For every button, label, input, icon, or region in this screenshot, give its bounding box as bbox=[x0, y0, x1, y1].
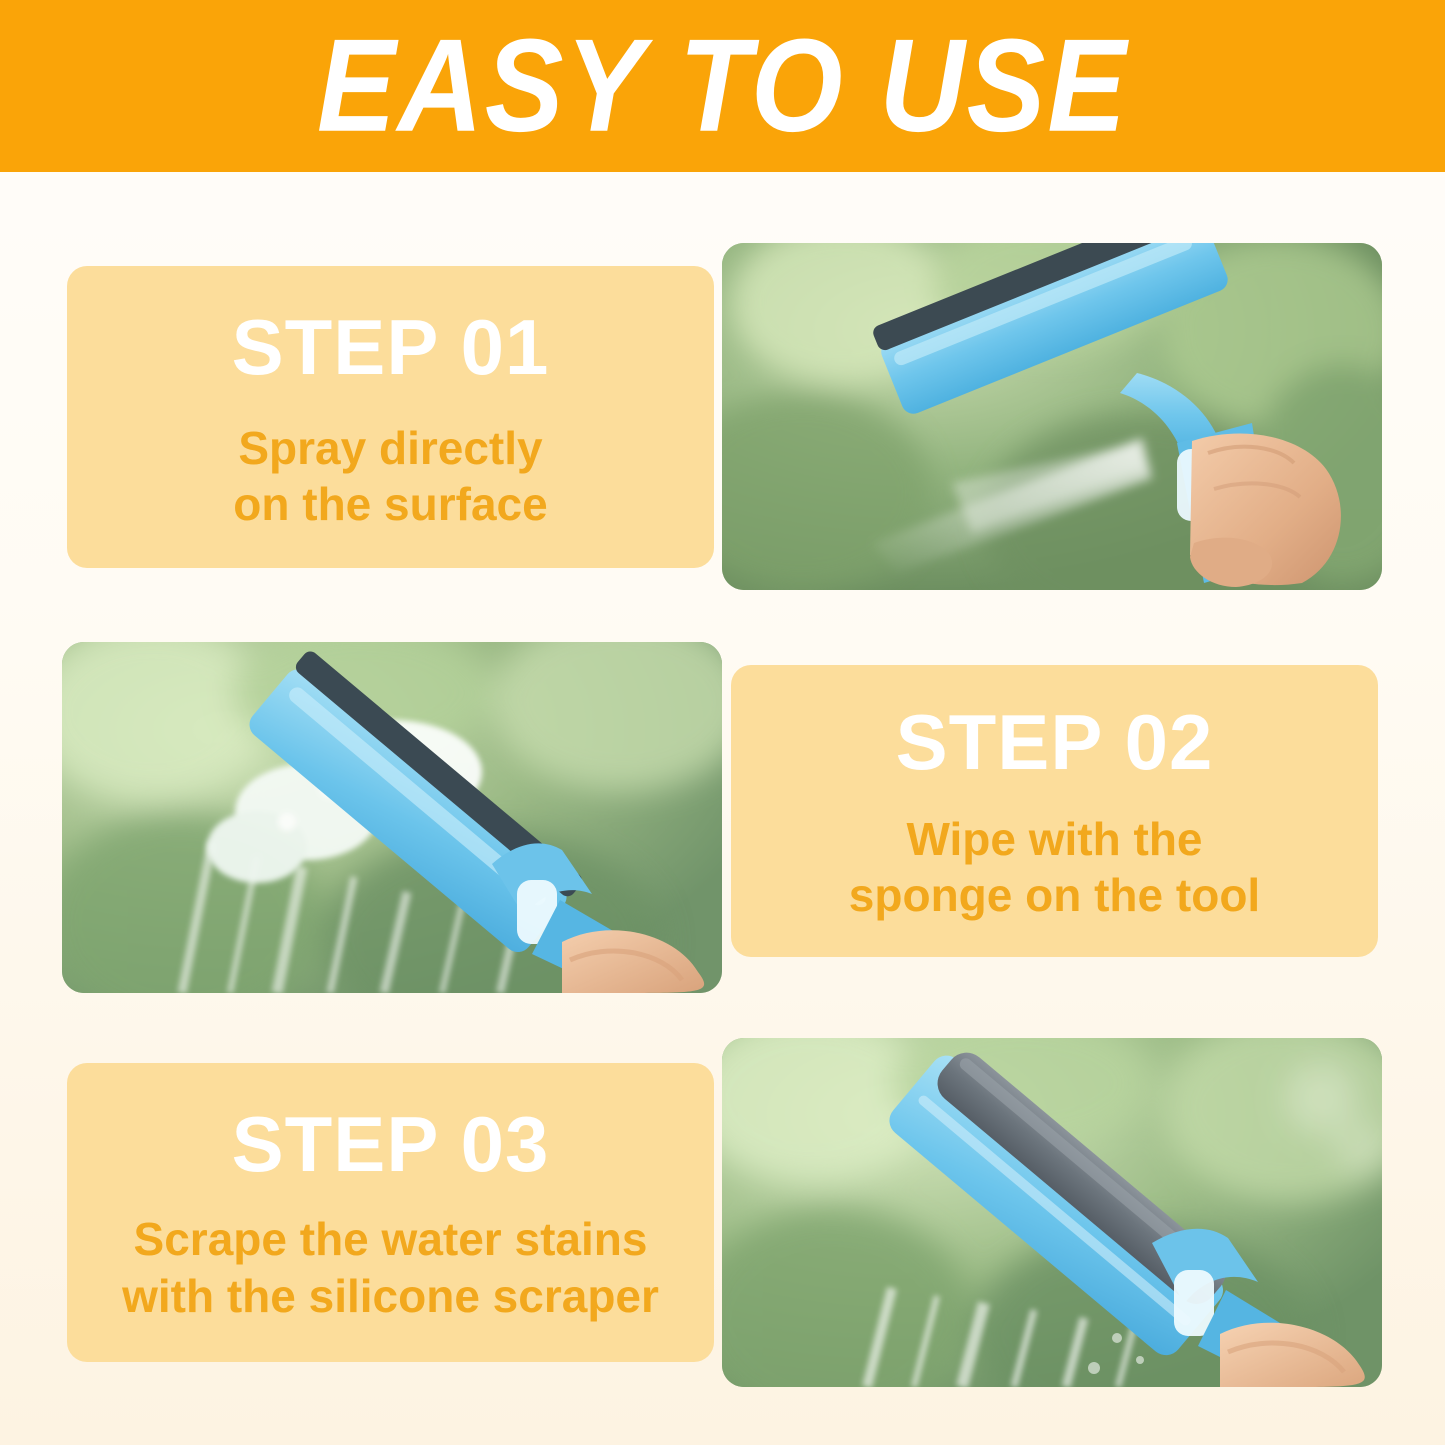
step-description-2-line-1: Wipe with the bbox=[849, 811, 1260, 867]
step-card-3: STEP 03 Scrape the water stains with the… bbox=[67, 1063, 714, 1362]
step-label-3: STEP 03 bbox=[232, 1105, 550, 1183]
step-description-1-line-2: on the surface bbox=[233, 476, 547, 532]
step-card-1: STEP 01 Spray directly on the surface bbox=[67, 266, 714, 568]
step-description-1-line-1: Spray directly bbox=[233, 420, 547, 476]
step-label-2: STEP 02 bbox=[896, 703, 1214, 781]
step-description-3: Scrape the water stains with the silicon… bbox=[122, 1211, 659, 1323]
step-description-3-line-1: Scrape the water stains bbox=[122, 1211, 659, 1267]
step-description-1: Spray directly on the surface bbox=[233, 420, 547, 532]
step-photo-1 bbox=[722, 243, 1382, 590]
foam-wipe-illustration bbox=[62, 642, 722, 993]
spray-squeegee-illustration bbox=[722, 243, 1382, 590]
infographic-page: EASY TO USE STEP 01 Spray directly on th… bbox=[0, 0, 1445, 1445]
header-divider bbox=[0, 172, 1445, 177]
step-description-3-line-2: with the silicone scraper bbox=[122, 1268, 659, 1324]
step-photo-2 bbox=[62, 642, 722, 993]
step-card-2: STEP 02 Wipe with the sponge on the tool bbox=[731, 665, 1378, 957]
sponge-scrape-illustration bbox=[722, 1038, 1382, 1387]
step-label-1: STEP 01 bbox=[232, 308, 550, 386]
step-photo-3 bbox=[722, 1038, 1382, 1387]
step-description-2-line-2: sponge on the tool bbox=[849, 867, 1260, 923]
step-description-2: Wipe with the sponge on the tool bbox=[849, 811, 1260, 923]
header-banner: EASY TO USE bbox=[0, 0, 1445, 172]
page-title: EASY TO USE bbox=[317, 20, 1128, 152]
